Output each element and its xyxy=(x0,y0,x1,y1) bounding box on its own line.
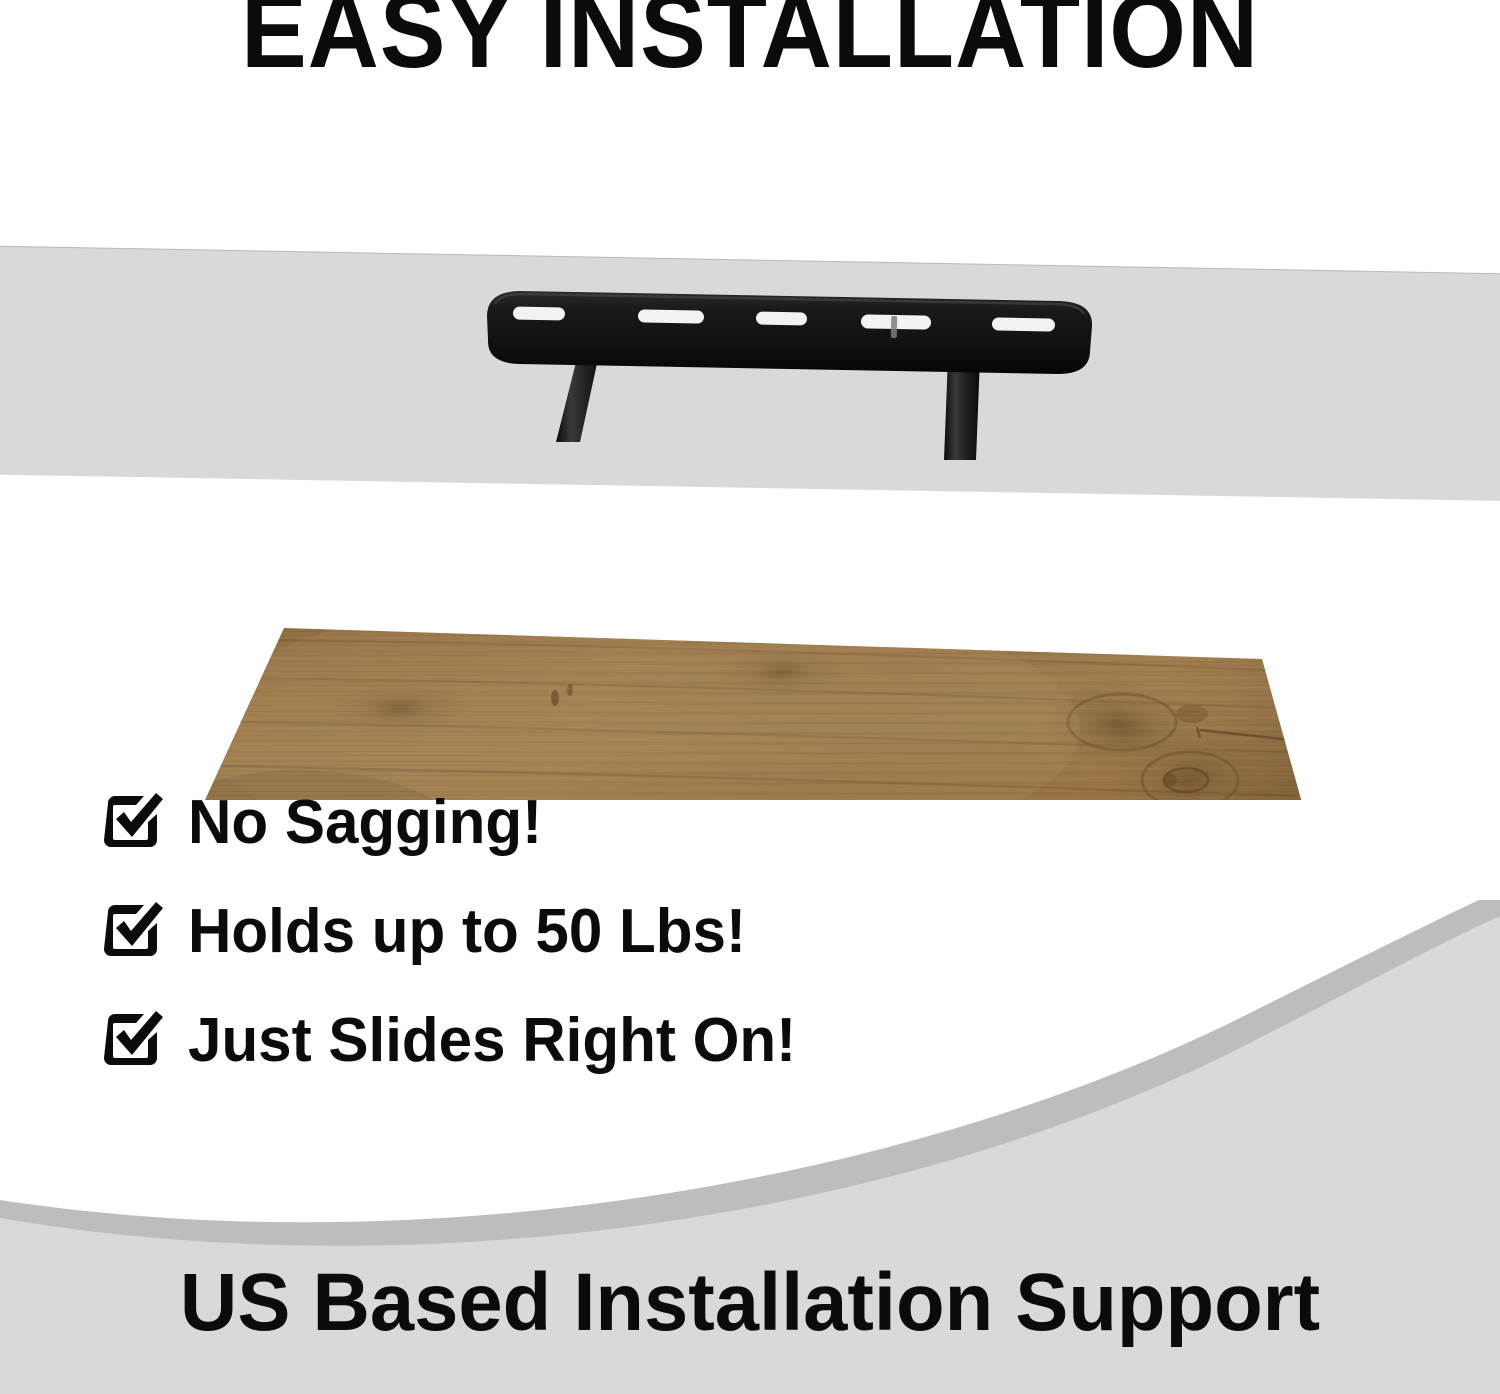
footer-text: US Based Installation Support xyxy=(23,1262,1478,1344)
shelf-top-surface xyxy=(120,590,1350,800)
checkbox-checked-icon xyxy=(100,792,166,854)
list-item: No Sagging! xyxy=(100,792,1000,854)
product-image xyxy=(0,260,1500,800)
page-title: EASY INSTALLATION xyxy=(53,0,1448,84)
list-item-label: No Sagging! xyxy=(188,792,542,854)
marketing-banner: EASY INSTALLATION xyxy=(0,0,1500,1394)
product-illustration xyxy=(0,260,1500,800)
black-steel-mounting-bracket xyxy=(487,291,1092,460)
